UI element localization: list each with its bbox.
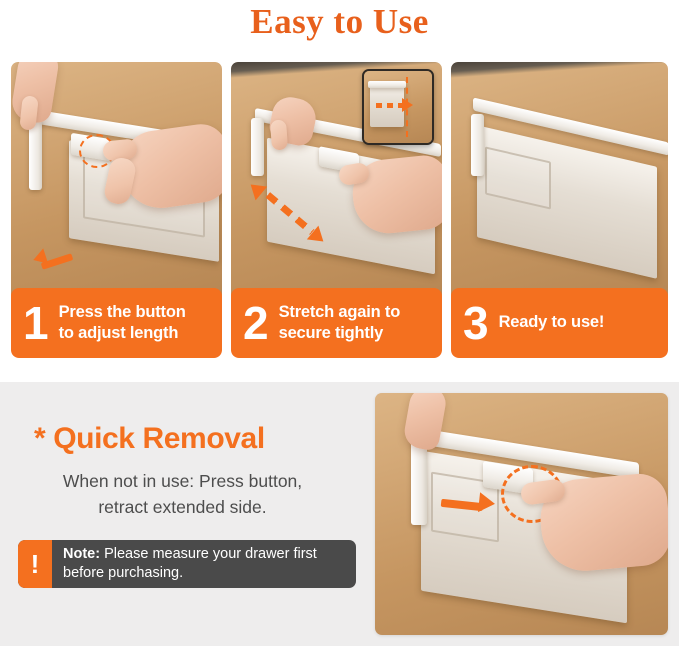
step-2-number: 2	[243, 300, 269, 346]
inset-arrow-head-icon	[402, 98, 413, 112]
easy-to-use-section: Easy to Use	[0, 0, 679, 382]
quick-removal-heading: * Quick Removal	[34, 422, 265, 456]
step-2-text-line1: Stretch again to	[279, 303, 401, 321]
step-1-text-line1: Press the button	[59, 303, 186, 321]
divider-end-cap-left	[471, 114, 484, 176]
quick-removal-description-line1: When not in use: Press button,	[63, 471, 302, 491]
inset-divider-rail	[368, 81, 406, 88]
divider-end-cap-left	[29, 120, 42, 190]
quick-removal-photo	[375, 393, 668, 635]
step-card-1: 1 Press the button to adjust length	[11, 62, 222, 358]
exclamation-icon: !	[18, 540, 52, 588]
quick-removal-section: * Quick Removal When not in use: Press b…	[0, 382, 679, 646]
step-3-text: Ready to use!	[499, 312, 605, 333]
step-card-3: 3 Ready to use!	[451, 62, 668, 358]
inset-arrow-shaft-icon	[376, 103, 402, 108]
step-1-label: 1 Press the button to adjust length	[11, 288, 222, 358]
right-arrow-head-icon	[478, 492, 496, 514]
note-label: Note:	[63, 546, 100, 562]
step-3-text-line1: Ready to use!	[499, 313, 605, 331]
step-2-label: 2 Stretch again to secure tightly	[231, 288, 442, 358]
finger-left-index	[270, 119, 288, 150]
note-banner: ! Note: Please measure your drawer first…	[18, 540, 356, 588]
divider-end-cap-left	[411, 439, 427, 525]
step-3-label: 3 Ready to use!	[451, 288, 668, 358]
divider-end-cap-left	[251, 118, 264, 176]
note-text: Note: Please measure your drawer first b…	[52, 545, 356, 583]
step-1-photo	[11, 62, 222, 297]
step-3-photo	[451, 62, 668, 297]
quick-removal-description: When not in use: Press button, retract e…	[0, 468, 365, 521]
step-card-2: 2 Stretch again to secure tightly	[231, 62, 442, 358]
step-2-photo	[231, 62, 442, 297]
step-3-number: 3	[463, 300, 489, 346]
step-1-text: Press the button to adjust length	[59, 302, 186, 344]
inset-detail-box	[362, 69, 434, 145]
step-2-text-line2: secure tightly	[279, 324, 383, 342]
quick-removal-description-line2: retract extended side.	[98, 497, 266, 517]
step-1-text-line2: to adjust length	[59, 324, 179, 342]
note-body: Please measure your drawer first before …	[63, 546, 317, 581]
step-2-text: Stretch again to secure tightly	[279, 302, 401, 344]
step-1-number: 1	[23, 300, 49, 346]
steps-gallery: 1 Press the button to adjust length	[11, 62, 668, 360]
page-title: Easy to Use	[0, 2, 679, 42]
